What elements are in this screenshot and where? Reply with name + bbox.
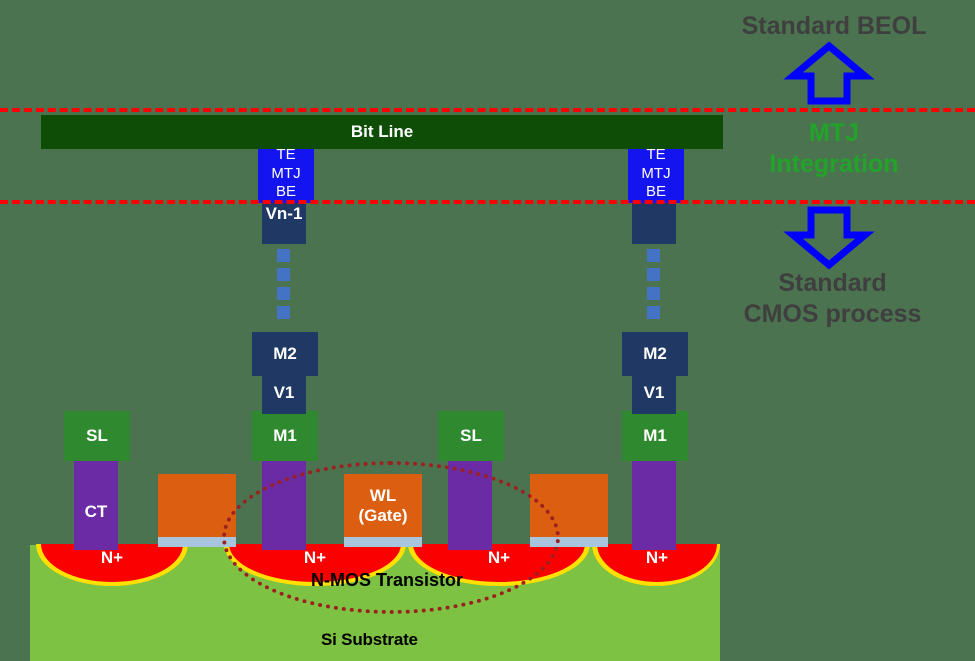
via-chain-dot (647, 306, 660, 319)
n-plus-label: N+ (101, 548, 123, 568)
mtj-core-label: MTJ (641, 165, 670, 184)
beol-boundary-bottom (0, 200, 975, 204)
down-arrow-icon (791, 208, 867, 268)
standard-cmos-note: Standard CMOS process (690, 268, 975, 329)
via-chain-dot (647, 249, 660, 262)
via-chain-dot (277, 287, 290, 300)
v1-label: V1 (274, 383, 295, 402)
n-plus-label: N+ (646, 548, 668, 568)
via-chain-dot (277, 249, 290, 262)
bit-line-label: Bit Line (351, 122, 413, 141)
via-chain-dot (647, 287, 660, 300)
m2-metal-block: M2 (252, 332, 318, 376)
v1-label: V1 (644, 383, 665, 402)
beol-boundary-top (0, 108, 975, 112)
m1-label: M1 (643, 426, 667, 445)
mtj-stack-block: TE MTJ BE (628, 145, 684, 203)
sl-metal-block: SL (438, 411, 504, 461)
m2-metal-block: M2 (622, 332, 688, 376)
bit-line-block: Bit Line (41, 115, 723, 149)
contact-block (632, 458, 676, 550)
up-arrow-icon (791, 44, 867, 104)
mtj-integration-note: MTJ Integration (700, 118, 968, 179)
via-chain-dot (277, 306, 290, 319)
diagram-canvas: N+ N+ N+ N+ WL (Gate) CT SL M1 V1 M2 (0, 0, 975, 661)
m1-metal-block: M1 (622, 411, 688, 461)
via-chain-dot (647, 268, 660, 281)
m2-label: M2 (273, 344, 297, 363)
m1-label: M1 (273, 426, 297, 445)
sl-metal-block: SL (64, 411, 130, 461)
sl-label: SL (460, 426, 482, 445)
m2-label: M2 (643, 344, 667, 363)
v1-via-block: V1 (632, 372, 676, 414)
si-substrate-label: Si Substrate (321, 630, 418, 650)
ct-contact-block: CT (74, 458, 118, 550)
v1-via-block: V1 (262, 372, 306, 414)
nmos-transistor-outline (222, 461, 560, 614)
m1-metal-block: M1 (252, 411, 318, 461)
vn1-label: Vn-1 (266, 204, 303, 223)
via-chain-dot (277, 268, 290, 281)
mtj-core-label: MTJ (271, 165, 300, 184)
mtj-stack-block: TE MTJ BE (258, 145, 314, 203)
nmos-transistor-label: N-MOS Transistor (311, 570, 463, 591)
ct-label: CT (85, 502, 108, 521)
sl-label: SL (86, 426, 108, 445)
standard-beol-note: Standard BEOL (700, 11, 968, 42)
